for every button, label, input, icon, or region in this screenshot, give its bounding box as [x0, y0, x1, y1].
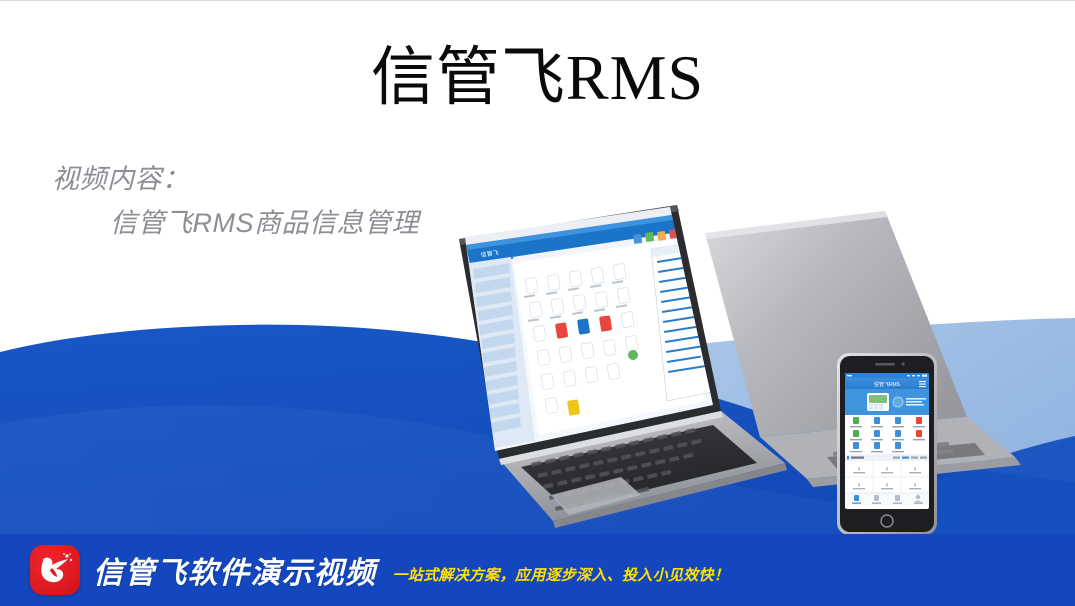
footer-brand-text: 信管飞软件演示视频: [93, 548, 377, 592]
xinguanfei-bird-logo-icon: [30, 545, 80, 595]
smartphone-mobile-app: 信管飞RMS: [837, 353, 937, 535]
presentation-slide: 信管飞RMS 视频内容： 信管飞RMS商品信息管理: [0, 0, 1075, 606]
device-mockup-group: 信管飞: [455, 205, 1075, 535]
video-content-value: 信管飞RMS商品信息管理: [52, 202, 419, 246]
hamburger-menu-icon: [919, 381, 926, 387]
video-content-block: 视频内容： 信管飞RMS商品信息管理: [52, 158, 419, 245]
footer-bar: 信管飞软件演示视频 一站式解决方案，应用逐步深入、投入小见效快！: [0, 534, 1075, 606]
phone-screen-content: 信管飞RMS: [845, 373, 929, 505]
svg-text:信管飞RMS: 信管飞RMS: [874, 381, 901, 388]
video-content-label: 视频内容：: [52, 164, 190, 194]
footer-tagline: 一站式解决方案，应用逐步深入、投入小见效快！: [393, 564, 730, 585]
page-title: 信管飞RMS: [0, 44, 1075, 111]
